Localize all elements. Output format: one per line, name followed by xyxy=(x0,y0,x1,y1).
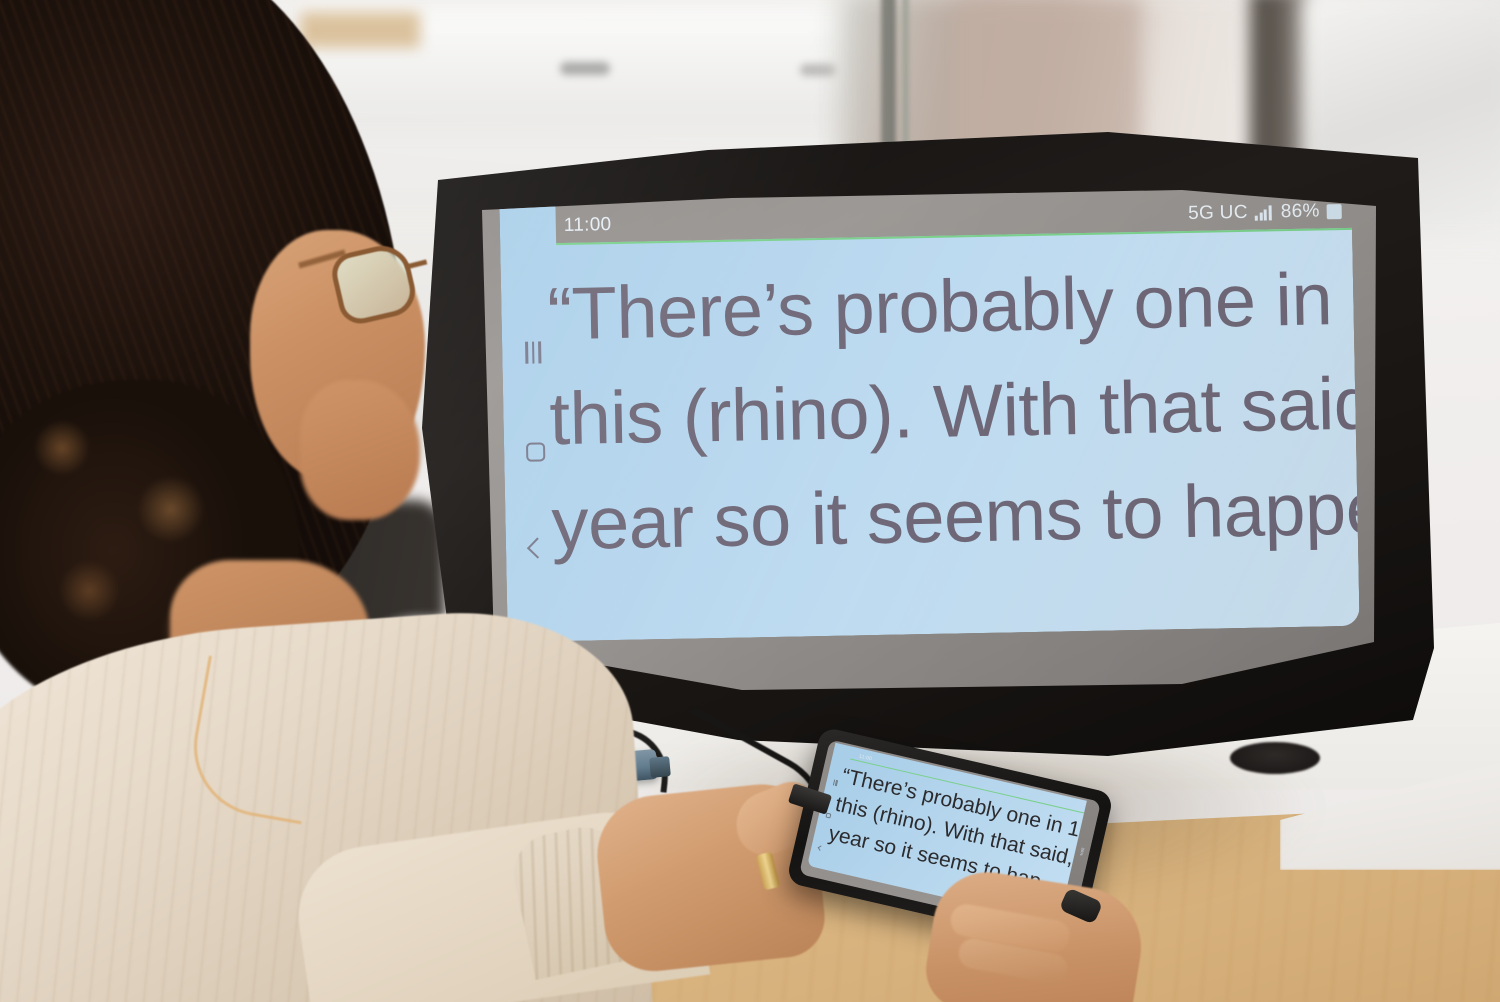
caption-text: “There’s probably one in 1 this (rhino).… xyxy=(546,244,1359,576)
phone-back-chevron-icon[interactable] xyxy=(818,845,824,851)
signal-bars-icon xyxy=(1255,205,1274,220)
caption-line-1: “There’s probably one in 1 xyxy=(546,244,1359,366)
person-jaw xyxy=(300,380,420,520)
background-handle xyxy=(560,62,610,75)
status-time: 11:00 xyxy=(564,214,612,237)
recents-icon[interactable] xyxy=(525,341,541,363)
battery-icon xyxy=(1327,204,1342,219)
background-box xyxy=(300,12,420,48)
phone-recents-icon[interactable] xyxy=(833,780,839,787)
monitor-screen[interactable]: 11:00 5G UC 86% xyxy=(482,190,1376,690)
photo-scene: 11:00 5G UC 86% xyxy=(0,0,1500,1002)
app-content-panel[interactable]: “There’s probably one in 1 this (rhino).… xyxy=(499,190,1359,642)
caption-line-3: year so it seems to happe xyxy=(551,454,1360,576)
caption-line-2: this (rhino). With that said, xyxy=(549,349,1360,471)
network-label: 5G UC xyxy=(1188,202,1248,225)
phone-home-icon[interactable] xyxy=(825,813,831,819)
status-bar-right: 5G UC 86% xyxy=(1188,200,1342,225)
back-chevron-icon[interactable] xyxy=(526,538,547,559)
status-bar-left: 11:00 xyxy=(564,214,612,237)
home-icon[interactable] xyxy=(525,442,544,461)
mirrored-phone-ui[interactable]: 11:00 5G UC 86% xyxy=(482,190,1376,690)
background-handle-2 xyxy=(800,64,836,76)
battery-percent-label: 86% xyxy=(1281,200,1320,223)
